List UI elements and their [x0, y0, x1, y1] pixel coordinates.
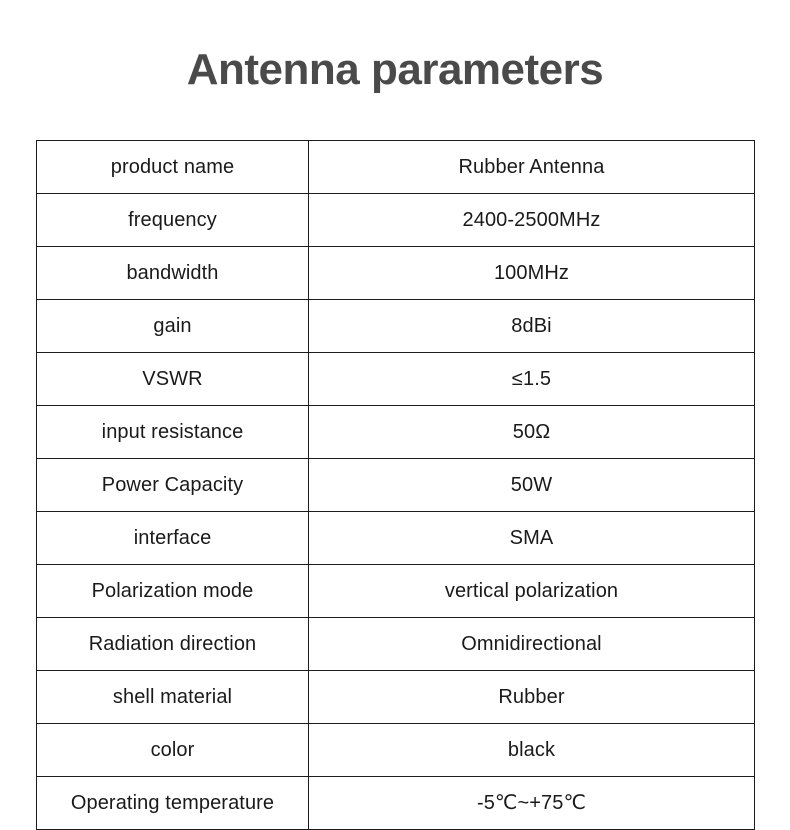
spec-label: frequency [37, 194, 309, 247]
table-row: VSWR ≤1.5 [37, 353, 755, 406]
spec-value: 2400-2500MHz [309, 194, 755, 247]
spec-value: SMA [309, 512, 755, 565]
table-row: product name Rubber Antenna [37, 141, 755, 194]
spec-label: bandwidth [37, 247, 309, 300]
spec-value: black [309, 724, 755, 777]
spec-value: 100MHz [309, 247, 755, 300]
antenna-spec-table: product name Rubber Antenna frequency 24… [36, 140, 755, 830]
spec-table-container: product name Rubber Antenna frequency 24… [36, 140, 754, 830]
spec-label: shell material [37, 671, 309, 724]
spec-label: Power Capacity [37, 459, 309, 512]
spec-label: Radiation direction [37, 618, 309, 671]
spec-label: product name [37, 141, 309, 194]
table-row: frequency 2400-2500MHz [37, 194, 755, 247]
spec-label: VSWR [37, 353, 309, 406]
table-row: gain 8dBi [37, 300, 755, 353]
spec-value: Rubber [309, 671, 755, 724]
table-row: Polarization mode vertical polarization [37, 565, 755, 618]
table-row: Operating temperature -5℃~+75℃ [37, 777, 755, 830]
spec-label: input resistance [37, 406, 309, 459]
spec-label: color [37, 724, 309, 777]
table-row: input resistance 50Ω [37, 406, 755, 459]
page-title: Antenna parameters [0, 0, 790, 96]
spec-label: Polarization mode [37, 565, 309, 618]
spec-label: Operating temperature [37, 777, 309, 830]
spec-table-body: product name Rubber Antenna frequency 24… [37, 141, 755, 830]
spec-value: ≤1.5 [309, 353, 755, 406]
table-row: Radiation direction Omnidirectional [37, 618, 755, 671]
spec-value: 50Ω [309, 406, 755, 459]
spec-label: gain [37, 300, 309, 353]
spec-value: Omnidirectional [309, 618, 755, 671]
table-row: color black [37, 724, 755, 777]
table-row: Power Capacity 50W [37, 459, 755, 512]
table-row: bandwidth 100MHz [37, 247, 755, 300]
spec-value: vertical polarization [309, 565, 755, 618]
spec-value: 8dBi [309, 300, 755, 353]
spec-value: 50W [309, 459, 755, 512]
spec-value: -5℃~+75℃ [309, 777, 755, 830]
spec-label: interface [37, 512, 309, 565]
antenna-parameters-page: Antenna parameters product name Rubber A… [0, 0, 790, 820]
table-row: shell material Rubber [37, 671, 755, 724]
spec-value: Rubber Antenna [309, 141, 755, 194]
table-row: interface SMA [37, 512, 755, 565]
